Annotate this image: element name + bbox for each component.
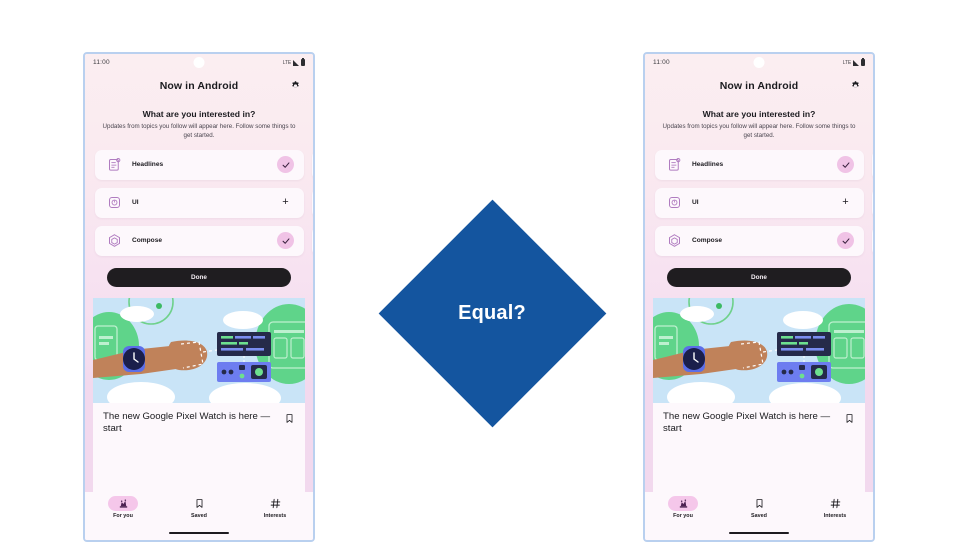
nav-item-saved[interactable]: Saved	[161, 496, 237, 519]
gear-icon[interactable]	[290, 81, 301, 92]
topic-card-peek-3[interactable]	[312, 226, 315, 256]
topic-card-compose[interactable]: Compose	[95, 226, 304, 256]
check-icon[interactable]	[837, 232, 854, 249]
interest-prompt-title: What are you interested in?	[95, 109, 303, 119]
topic-row: UI + A	[95, 188, 313, 218]
rounded-square-circle-icon	[665, 194, 683, 212]
hexagon-icon	[105, 232, 123, 250]
topic-card-peek-2[interactable]: A	[312, 188, 315, 218]
gesture-bar	[169, 532, 229, 534]
topic-card-headlines[interactable]: Headlines	[655, 150, 864, 180]
interest-prompt-title: What are you interested in?	[655, 109, 863, 119]
done-button-wrap: Done	[645, 256, 873, 298]
bottom-navigation: For you Saved Interests	[645, 492, 873, 540]
hexagon-icon	[665, 232, 683, 250]
topic-card-peek-2[interactable]: A	[872, 188, 875, 218]
check-icon[interactable]	[277, 232, 294, 249]
phone-mockup-left: 11:00 LTE Now in Android What are you in…	[83, 52, 315, 542]
topic-card-ui[interactable]: UI +	[655, 188, 864, 218]
topic-list: Headlines	[85, 148, 313, 256]
topic-card-peek-3[interactable]	[872, 226, 875, 256]
done-button-wrap: Done	[85, 256, 313, 298]
rounded-square-circle-icon	[105, 194, 123, 212]
topic-list: Headlines	[645, 148, 873, 256]
hash-icon	[820, 496, 850, 511]
topic-row: Compose	[95, 226, 313, 256]
camera-punch-hole-icon	[754, 57, 765, 68]
for-you-icon	[108, 496, 138, 511]
interest-prompt-subtitle: Updates from topics you follow will appe…	[95, 123, 303, 141]
done-button[interactable]: Done	[667, 268, 851, 287]
app-bar: Now in Android	[85, 71, 313, 101]
topic-label: UI	[132, 199, 277, 206]
check-icon[interactable]	[277, 156, 294, 173]
nav-label: Interests	[264, 513, 286, 519]
article-card[interactable]: The new Google Pixel Watch is here — sta…	[653, 403, 865, 492]
topic-row: UI + A	[655, 188, 873, 218]
plus-icon[interactable]: +	[837, 194, 854, 211]
check-icon[interactable]	[837, 156, 854, 173]
app-bar: Now in Android	[645, 71, 873, 101]
bookmark-icon[interactable]	[844, 413, 855, 424]
topic-card-headlines[interactable]: Headlines	[95, 150, 304, 180]
topic-card-peek-1[interactable]	[312, 150, 315, 180]
nav-label: Saved	[751, 513, 767, 519]
nav-item-for-you[interactable]: For you	[85, 496, 161, 519]
nav-item-interests[interactable]: Interests	[797, 496, 873, 519]
diamond-label: Equal?	[458, 302, 526, 325]
interest-prompt: What are you interested in? Updates from…	[85, 101, 313, 148]
battery-icon	[301, 59, 305, 66]
equal-comparison-marker: Equal?	[378, 199, 606, 427]
interest-prompt: What are you interested in? Updates from…	[645, 101, 873, 148]
comparison-canvas: 11:00 LTE Now in Android What are you in…	[0, 0, 960, 540]
status-bar: 11:00 LTE	[645, 54, 873, 71]
article-title: The new Google Pixel Watch is here — sta…	[103, 411, 276, 436]
nav-item-for-you[interactable]: For you	[645, 496, 721, 519]
status-icons: LTE	[843, 59, 865, 66]
topic-card-compose[interactable]: Compose	[655, 226, 864, 256]
nav-label: Interests	[824, 513, 846, 519]
gesture-bar	[729, 532, 789, 534]
page-title: Now in Android	[160, 80, 239, 92]
interest-prompt-subtitle: Updates from topics you follow will appe…	[655, 123, 863, 141]
bookmark-icon[interactable]	[284, 413, 295, 424]
status-icons: LTE	[283, 59, 305, 66]
nav-label: For you	[113, 513, 133, 519]
topic-row: Headlines	[95, 150, 313, 180]
topic-label: Compose	[132, 237, 277, 244]
page-title: Now in Android	[720, 80, 799, 92]
bottom-navigation: For you Saved Interests	[85, 492, 313, 540]
for-you-icon	[668, 496, 698, 511]
gear-icon[interactable]	[850, 81, 861, 92]
article-illustration	[653, 298, 865, 403]
news-document-icon	[665, 156, 683, 174]
battery-icon	[861, 59, 865, 66]
nav-item-interests[interactable]: Interests	[237, 496, 313, 519]
lte-label: LTE	[843, 60, 851, 66]
topic-row: Headlines	[655, 150, 873, 180]
phone-screen-right: 11:00 LTE Now in Android What are you in…	[645, 54, 873, 540]
topic-label: Headlines	[132, 161, 277, 168]
topic-label: UI	[692, 199, 837, 206]
nav-item-saved[interactable]: Saved	[721, 496, 797, 519]
status-bar: 11:00 LTE	[85, 54, 313, 71]
phone-mockup-right: 11:00 LTE Now in Android What are you in…	[643, 52, 875, 542]
signal-icon	[853, 60, 859, 66]
topic-label: Headlines	[692, 161, 837, 168]
nav-label: For you	[673, 513, 693, 519]
article-card[interactable]: The new Google Pixel Watch is here — sta…	[93, 403, 305, 492]
topic-card-peek-1[interactable]	[872, 150, 875, 180]
article-illustration	[93, 298, 305, 403]
bookmark-icon	[184, 496, 214, 511]
news-document-icon	[105, 156, 123, 174]
lte-label: LTE	[283, 60, 291, 66]
signal-icon	[293, 60, 299, 66]
nav-label: Saved	[191, 513, 207, 519]
done-button[interactable]: Done	[107, 268, 291, 287]
status-time: 11:00	[93, 59, 110, 66]
status-time: 11:00	[653, 59, 670, 66]
bookmark-icon	[744, 496, 774, 511]
topic-label: Compose	[692, 237, 837, 244]
topic-card-ui[interactable]: UI +	[95, 188, 304, 218]
camera-punch-hole-icon	[194, 57, 205, 68]
hash-icon	[260, 496, 290, 511]
plus-icon[interactable]: +	[277, 194, 294, 211]
article-title: The new Google Pixel Watch is here — sta…	[663, 411, 836, 436]
phone-screen-left: 11:00 LTE Now in Android What are you in…	[85, 54, 313, 540]
topic-row: Compose	[655, 226, 873, 256]
